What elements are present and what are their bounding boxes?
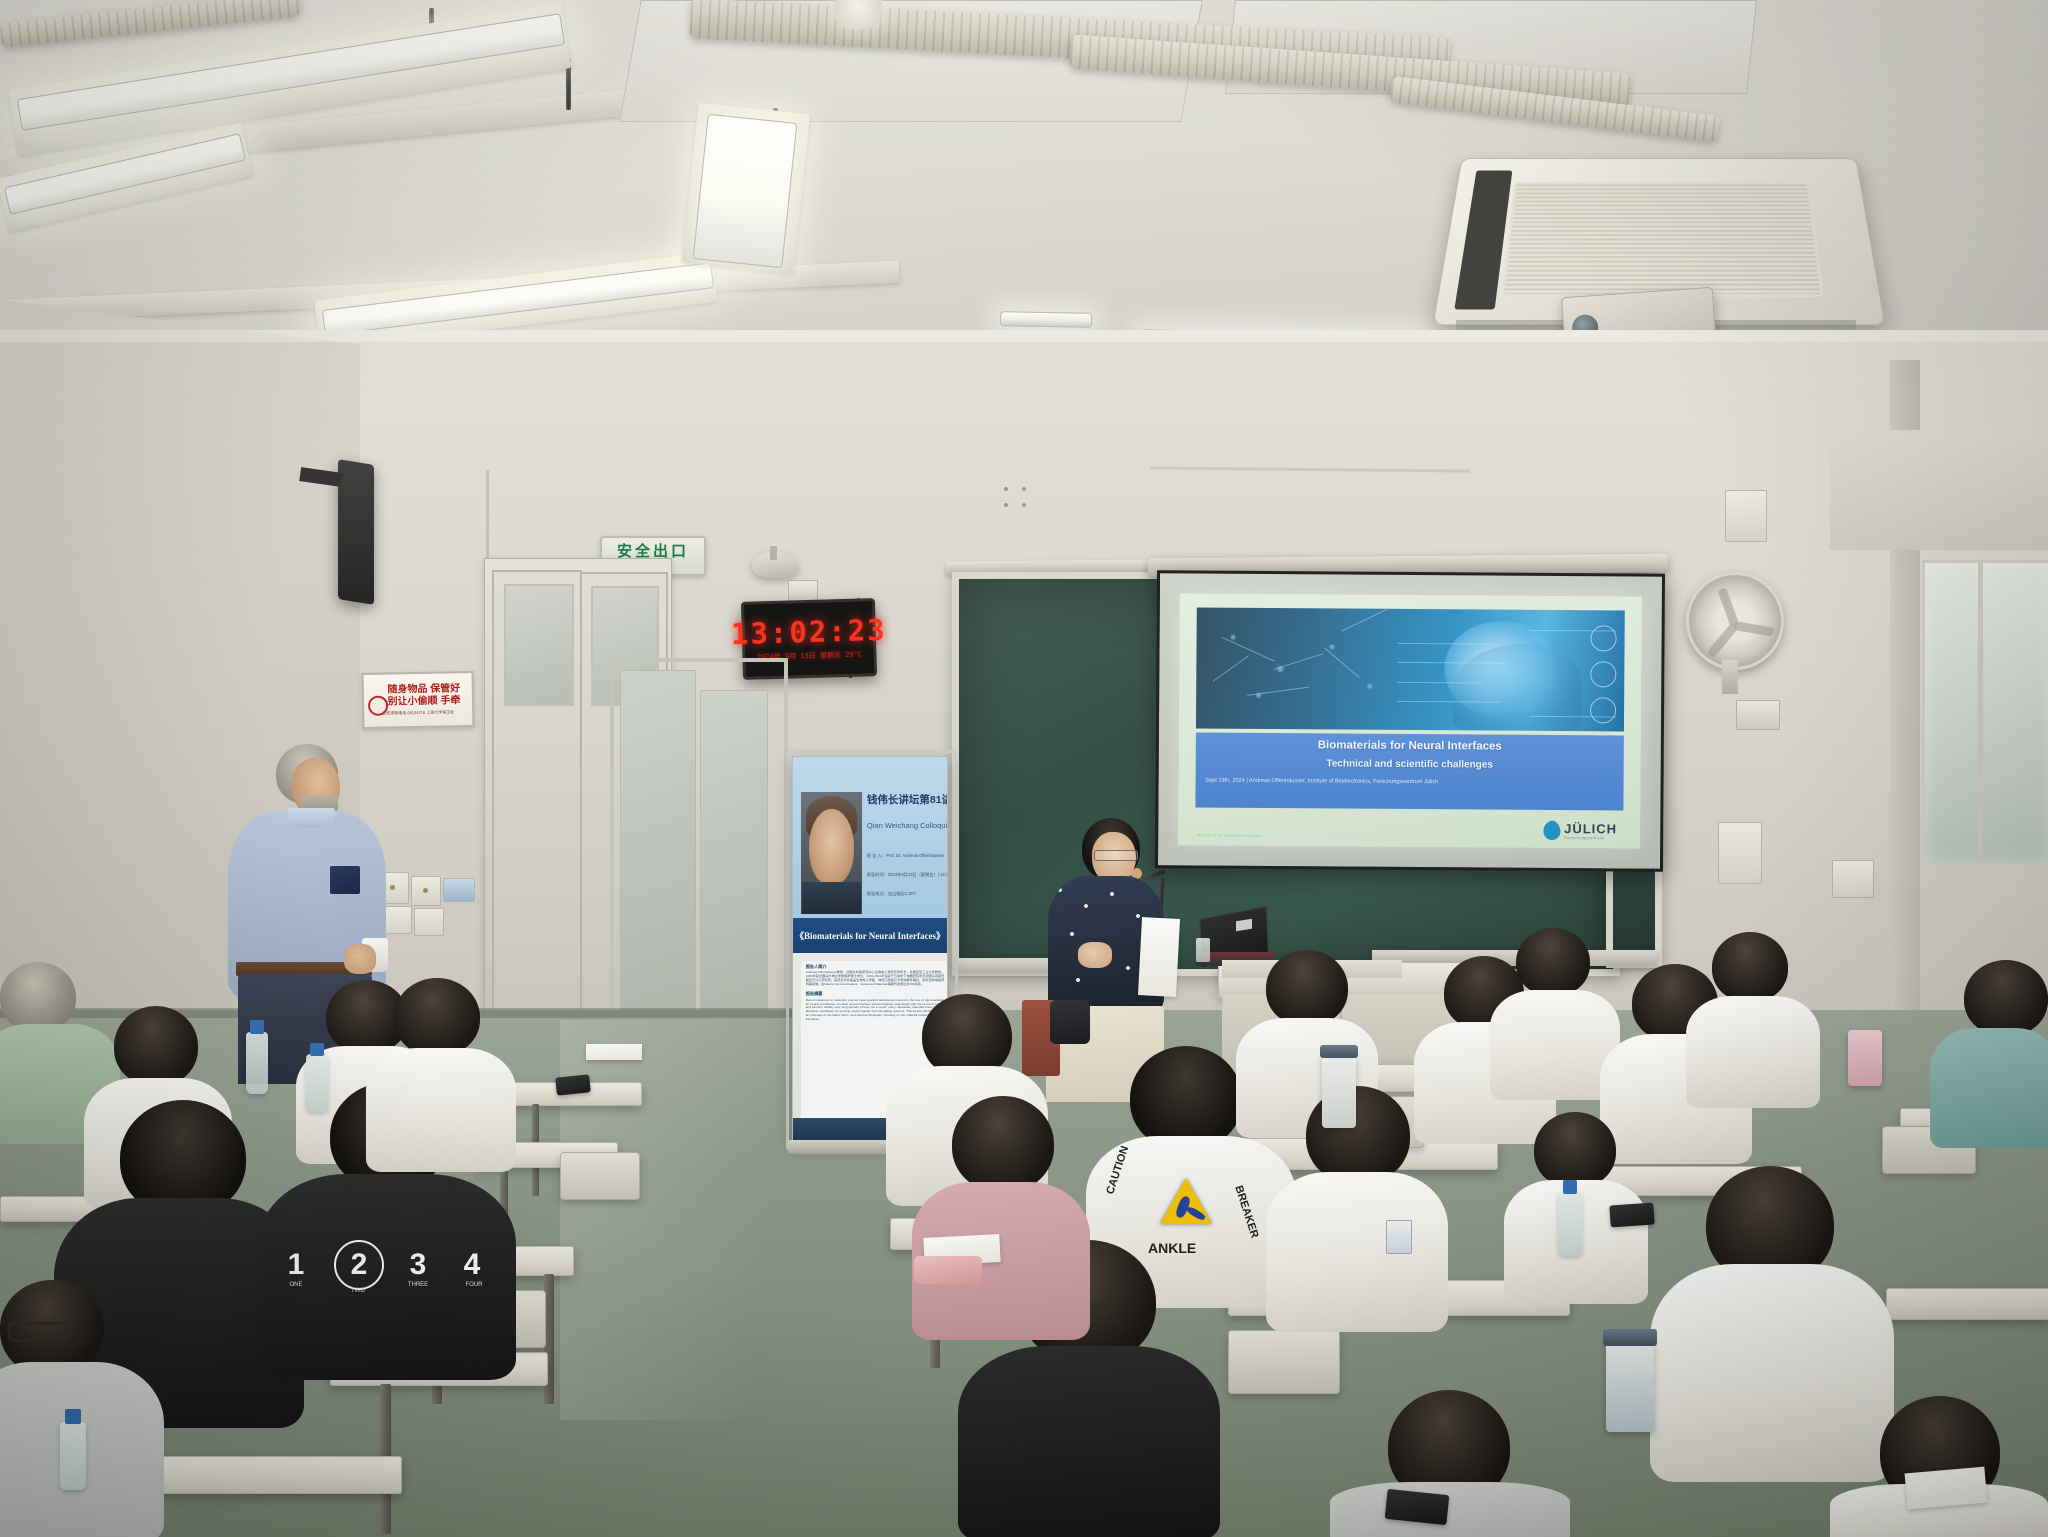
banner-section1-body: Andreas Offenhäusser教授，德国尤利希研究中心生物电子学研究所… bbox=[806, 971, 945, 987]
ceiling-light-4 bbox=[693, 114, 798, 269]
neuron-node bbox=[1329, 645, 1334, 650]
fan-bracket bbox=[1722, 660, 1738, 694]
caution-word-top: CAUTION bbox=[1104, 1144, 1131, 1195]
audience-head-16 bbox=[1964, 960, 2048, 1036]
audience-body-16 bbox=[1930, 1028, 2048, 1148]
julich-logo-sub: Forschungszentrum bbox=[1564, 836, 1617, 840]
notice-line-1: 随身物品 保管好 bbox=[387, 684, 460, 696]
exit-sign-chinese: 安全出口 bbox=[617, 544, 689, 559]
handout-on-desk bbox=[1905, 1467, 1988, 1510]
circuit-trace bbox=[1398, 643, 1492, 645]
fire-alarm-panel bbox=[1725, 490, 1767, 542]
circuit-trace bbox=[1397, 681, 1483, 683]
banner-title-bar: 《Biomaterials for Neural Interfaces》 bbox=[793, 918, 947, 953]
presenter-glasses-icon bbox=[1094, 850, 1138, 861]
water-bottle-4 bbox=[60, 1422, 86, 1490]
banner-section2-heading: 报告摘要 bbox=[806, 992, 945, 997]
audience-head-13 bbox=[1516, 928, 1590, 996]
fan-blade bbox=[1734, 621, 1774, 637]
guest-speaker-collar bbox=[288, 808, 334, 828]
door-window bbox=[504, 584, 574, 706]
camera-bracket bbox=[770, 546, 777, 560]
presenter-handout bbox=[1138, 917, 1180, 997]
audience-head-9 bbox=[1130, 1046, 1242, 1150]
presentation-slide: Biomaterials for Neural Interfaces Techn… bbox=[1178, 594, 1642, 848]
guest-speaker-hand bbox=[344, 944, 376, 974]
slide-icon-circle bbox=[1590, 661, 1616, 687]
bottle-cap bbox=[65, 1409, 81, 1424]
slide-hero-image bbox=[1196, 608, 1625, 732]
slide-title: Biomaterials for Neural Interfaces bbox=[1195, 738, 1624, 753]
tee-word-3: THREE bbox=[398, 1282, 438, 1288]
wall-dot-marks bbox=[1002, 485, 1032, 515]
tee-word-4: FOUR bbox=[454, 1282, 494, 1288]
projection-screen: Biomaterials for Neural Interfaces Techn… bbox=[1155, 570, 1665, 872]
rear-door-left[interactable] bbox=[492, 570, 582, 1024]
tee-number-3: 3 bbox=[404, 1250, 432, 1280]
audience-head-2 bbox=[114, 1006, 198, 1086]
right-window bbox=[1922, 560, 2048, 866]
glass-on-lectern bbox=[1196, 938, 1210, 962]
presenter-bag bbox=[1050, 1000, 1090, 1044]
slide-footnote: Member of the Helmholtz Association bbox=[1197, 833, 1263, 838]
wall-junction-box bbox=[1832, 860, 1874, 898]
neuron-node bbox=[1231, 634, 1236, 639]
chair-right-2[interactable] bbox=[1228, 1330, 1340, 1394]
wall-outlet-4[interactable] bbox=[414, 908, 444, 936]
audience-glasses-icon bbox=[8, 1322, 70, 1342]
thermos-tumbler-2 bbox=[1606, 1340, 1654, 1432]
audience-head-1 bbox=[0, 962, 76, 1032]
wall-safety-notice: 随身物品 保管好 别让小偷顺 手牵 治安求助电话 66134276 上海大学保卫… bbox=[362, 671, 475, 729]
pencil-case bbox=[914, 1256, 982, 1284]
audience-head-15 bbox=[1712, 932, 1788, 1002]
portrait-face bbox=[809, 809, 853, 885]
julich-logo: JÜLICH Forschungszentrum bbox=[1543, 821, 1617, 841]
outlet-socket bbox=[390, 885, 395, 890]
wall-control-box bbox=[1718, 822, 1762, 884]
notice-seal-icon bbox=[368, 695, 388, 715]
julich-logo-text: JÜLICH Forschungszentrum bbox=[1564, 822, 1617, 840]
bottle-cap bbox=[310, 1043, 323, 1056]
chair-left-1[interactable] bbox=[560, 1152, 640, 1200]
phone-on-desk-2[interactable] bbox=[1609, 1202, 1654, 1227]
phone-on-desk-3[interactable] bbox=[1385, 1489, 1450, 1525]
ac-grille bbox=[1500, 183, 1824, 297]
neuron-fiber bbox=[1324, 647, 1360, 678]
caution-word-right: BREAKER bbox=[1232, 1184, 1260, 1239]
tee-word-1: ONE bbox=[280, 1282, 312, 1288]
neuron-node bbox=[1367, 684, 1372, 689]
wall-outlet-2[interactable] bbox=[411, 876, 441, 906]
lanyard-badge bbox=[1386, 1220, 1412, 1254]
bottle-cap bbox=[250, 1020, 263, 1034]
water-bottle-2 bbox=[306, 1054, 328, 1112]
neuron-fiber bbox=[1213, 655, 1249, 681]
tee-word-2: TWO bbox=[340, 1288, 376, 1294]
wall-upper-band bbox=[0, 330, 2048, 342]
drink-cup-pink bbox=[1848, 1030, 1882, 1086]
fan-blade bbox=[1718, 588, 1740, 627]
speaker-portrait bbox=[801, 792, 863, 915]
slide-title-band: Biomaterials for Neural Interfaces Techn… bbox=[1195, 732, 1624, 810]
audience-body-numbered-tee: 1 ONE 2 TWO 3 THREE 4 FOUR bbox=[258, 1174, 516, 1380]
notice-footer: 治安求助电话 66134276 上海大学保卫处 bbox=[382, 710, 454, 716]
banner-lecture-title: 《Biomaterials for Neural Interfaces》 bbox=[795, 929, 945, 942]
neuron-fiber bbox=[1273, 653, 1323, 670]
slide-subtitle: Technical and scientific challenges bbox=[1195, 757, 1624, 771]
banner-section2-body: Recent advances in materials science hav… bbox=[806, 999, 945, 1023]
banner-meta-1: 报 告 人：Prof. Dr. Andreas Offenhäusser bbox=[867, 853, 944, 858]
banner-heading-chinese: 钱伟长讲坛第81讲 bbox=[867, 795, 948, 806]
audience-head-19 bbox=[952, 1096, 1054, 1192]
right-wall-panel bbox=[1830, 430, 2048, 550]
banner-section1-heading: 报告人简介 bbox=[806, 965, 945, 970]
slide-icon-circle bbox=[1590, 625, 1616, 651]
tee-number-1: 1 bbox=[282, 1250, 310, 1280]
fan-control-box bbox=[1736, 700, 1780, 730]
audience-head-10 bbox=[1266, 950, 1348, 1026]
audience-head-6 bbox=[394, 978, 480, 1056]
audience-body-15 bbox=[1686, 996, 1820, 1108]
desk-far-right bbox=[1886, 1288, 2048, 1320]
water-bottle-3 bbox=[1558, 1192, 1582, 1256]
tumbler-lid bbox=[1603, 1329, 1657, 1346]
neuron-fiber bbox=[1247, 687, 1309, 696]
audience-body-11 bbox=[1266, 1172, 1448, 1332]
slide-icon-circle bbox=[1590, 697, 1616, 723]
audience-body-6 bbox=[366, 1048, 516, 1172]
portrait-suit bbox=[802, 882, 861, 914]
wall-data-port[interactable] bbox=[443, 878, 475, 902]
presenter-hand bbox=[1078, 942, 1112, 968]
banner-meta-2: 报告时间：2024年9月13日（星期五）| 13:00 bbox=[867, 872, 948, 877]
tee-number-4: 4 bbox=[458, 1250, 486, 1280]
julich-logo-name: JÜLICH bbox=[1564, 822, 1617, 835]
audience-body-17 bbox=[1650, 1264, 1894, 1482]
clock-time: 13:02:23 bbox=[731, 616, 887, 649]
water-bottle-1 bbox=[246, 1032, 268, 1094]
wall-mounted-fan bbox=[1686, 572, 1784, 670]
circuit-trace bbox=[1397, 701, 1500, 703]
papers-on-desk bbox=[586, 1044, 642, 1060]
audience-head-20 bbox=[1534, 1112, 1616, 1188]
caution-word-bottom: ANKLE bbox=[1148, 1240, 1196, 1256]
window-mullion bbox=[1978, 563, 1983, 857]
fan-blade bbox=[1707, 623, 1739, 658]
thermos-tumbler-1 bbox=[1322, 1054, 1356, 1128]
notice-line-2: 别让小偷顺 手牵 bbox=[388, 697, 461, 709]
clock-power-box bbox=[788, 580, 818, 602]
tumbler-lid bbox=[1320, 1045, 1358, 1058]
ceiling-light-9 bbox=[1000, 311, 1092, 328]
julich-logo-mark-icon bbox=[1541, 819, 1562, 841]
audience-body-18 bbox=[958, 1346, 1220, 1537]
wall-speaker bbox=[338, 459, 374, 605]
banner-meta-3: 报告地点：宝山校区C.007 bbox=[867, 891, 916, 896]
slide-byline: Sept 13th, 2024 | Andreas Offenhäusser, … bbox=[1205, 777, 1624, 786]
audience-body-22 bbox=[1330, 1482, 1570, 1537]
banner-heading-english: Qian Weichang Colloquium bbox=[867, 822, 948, 830]
bottle-cap bbox=[1563, 1180, 1577, 1194]
phone-on-desk-1[interactable] bbox=[555, 1074, 591, 1095]
tee-number-2-circle: 2 bbox=[334, 1240, 384, 1290]
outlet-socket bbox=[423, 888, 428, 893]
desk-row5-left bbox=[150, 1456, 402, 1494]
neuron-fiber bbox=[1222, 637, 1275, 662]
guest-speaker-pocket-pen bbox=[330, 866, 360, 894]
corridor-frame bbox=[610, 658, 788, 1038]
dome-light bbox=[834, 0, 882, 30]
neuron-fiber bbox=[1342, 609, 1388, 632]
lecture-hall-photo: 安全出口 EXIT 13:02:23 2024年 9月 13日 星期五 29°C… bbox=[0, 0, 2048, 1537]
